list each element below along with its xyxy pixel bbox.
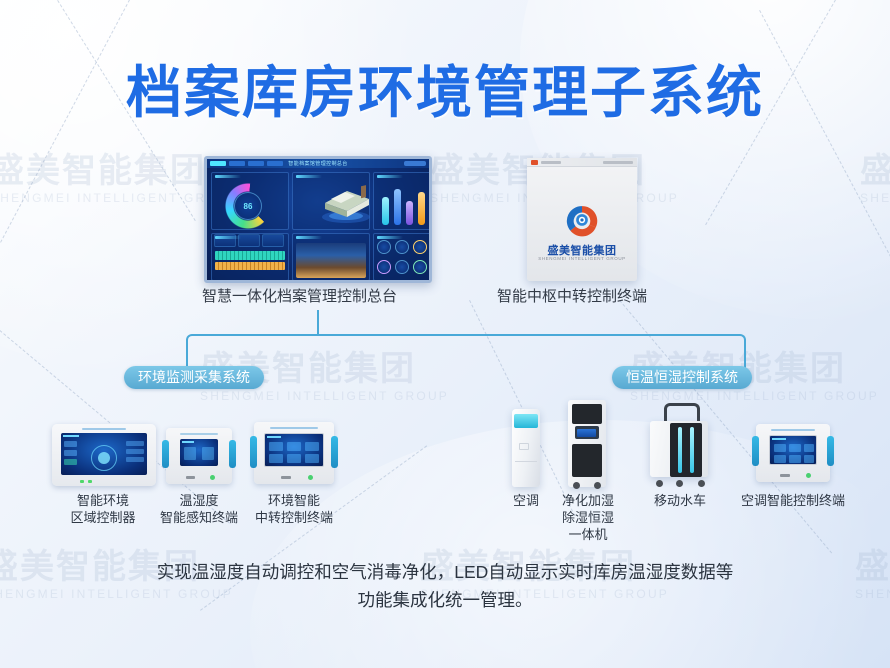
side-accent-left — [752, 436, 759, 466]
device-caption: 环境智能 中转控制终端 — [244, 492, 344, 526]
bg-diagonal-2 — [0, 0, 130, 265]
watermark-en: SHENGMEI INTELLIGENT GROUP — [200, 388, 449, 404]
device-purifier-humidifier-image — [568, 400, 606, 487]
panel-title-bar — [215, 175, 241, 178]
hub-brand-en: SHENGMEI INTELLIGENT GROUP — [527, 256, 637, 261]
device-temp-humidity-sensor-image — [166, 428, 232, 484]
power-led-icon — [210, 475, 215, 480]
side-accent-left — [250, 436, 257, 468]
hmi-screen[interactable] — [61, 433, 147, 475]
bar-item — [382, 197, 389, 225]
bar-chart — [379, 181, 427, 225]
heat-strip-2 — [215, 262, 285, 270]
shengmei-logo-icon — [565, 204, 599, 238]
watermark: 盛美智能集团 SHENGMEI INTELLIGENT GROUP — [855, 548, 890, 602]
wallbox-header-text — [180, 433, 218, 435]
watermark-en: SHENGMEI INTELLIGENT GROUP — [860, 190, 890, 206]
device-air-conditioner-image — [512, 409, 540, 487]
panel-title-bar — [215, 236, 241, 239]
control-icon-fresh-air[interactable] — [395, 260, 409, 274]
control-icon-security[interactable] — [413, 260, 427, 274]
side-accent-right — [331, 436, 338, 468]
heat-strip-1 — [215, 251, 285, 260]
caption-line-1: 实现温湿度自动调控和空气消毒净化，LED自动显示实时库房温湿度数据等 — [157, 562, 734, 582]
label-strip — [780, 474, 790, 477]
bar-item — [406, 201, 413, 225]
side-accent-left — [162, 440, 169, 468]
caption-line-2: 功能集成化统一管理。 — [358, 590, 533, 610]
panel-title-bar — [377, 175, 403, 178]
watermark: 盛美智能集团 SHENGMEI INTELLIGENT GROUP — [860, 152, 890, 206]
bar-item — [394, 189, 401, 225]
label-strip — [186, 476, 195, 479]
console-dashboard-image: 智能档案馆管理控制总台 86 — [204, 156, 432, 283]
bottom-caption: 实现温湿度自动调控和空气消毒净化，LED自动显示实时库房温湿度数据等 功能集成化… — [60, 558, 830, 614]
ac-vent — [514, 414, 539, 427]
control-icon-aircon[interactable] — [377, 240, 391, 254]
hub-header-title — [603, 161, 633, 164]
device-area-controller-image — [52, 424, 156, 486]
label-strip — [281, 476, 291, 479]
watermark-cn: 盛美智能集团 — [860, 152, 890, 190]
poster-canvas: 盛美智能集团 SHENGMEI INTELLIGENT GROUP 盛美智能集团… — [0, 0, 890, 668]
group-label-temp-humidity-control: 恒温恒湿控制系统 — [612, 366, 752, 389]
page-title: 档案库房环境管理子系统 — [0, 48, 890, 129]
hub-header-text — [541, 161, 561, 164]
device-mobile-water-cart-image — [650, 403, 708, 487]
console-label: 智慧一体化档案管理控制总台 — [202, 285, 397, 306]
wallbox-screen[interactable] — [769, 435, 817, 465]
hub-label: 智能中枢中转控制终端 — [497, 285, 647, 306]
caster-wheel-icon — [594, 482, 601, 489]
dashboard-topbar: 智能档案馆管理控制总台 — [207, 159, 429, 168]
device-ac-control-terminal-image — [756, 424, 830, 482]
cart-chamber — [670, 423, 702, 477]
wallbox-screen[interactable] — [264, 433, 324, 467]
caster-wheel-icon — [573, 482, 580, 489]
caster-wheel-icon — [656, 480, 663, 487]
device-caption: 空调智能控制终端 — [722, 492, 864, 509]
wallbox-header-text — [270, 427, 318, 429]
device-caption: 移动水车 — [638, 492, 722, 509]
gauge-value: 86 — [234, 192, 262, 220]
hub-terminal-image: 盛美智能集团 SHENGMEI INTELLIGENT GROUP — [527, 158, 637, 281]
live-video-thumbnail[interactable] — [296, 243, 366, 278]
control-icon-lighting[interactable] — [413, 240, 427, 254]
dashboard-title: 智能档案馆管理控制总台 — [207, 160, 429, 167]
caster-wheel-icon — [676, 480, 683, 487]
device-caption: 温湿度 智能感知终端 — [139, 492, 259, 526]
panel-title-bar — [296, 236, 322, 239]
wallbox-header-text — [771, 429, 815, 431]
connector-stem-dashed — [318, 284, 319, 312]
watermark-cn: 盛美智能集团 — [855, 548, 890, 586]
status-led-green — [88, 480, 92, 483]
caster-wheel-icon — [698, 480, 705, 487]
control-icon-dehumidify[interactable] — [395, 240, 409, 254]
watermark-en: SHENGMEI INTELLIGENT GROUP — [855, 586, 890, 602]
uv-lamp-icon — [678, 427, 682, 473]
panel-title-bar — [296, 175, 322, 178]
power-led-icon — [308, 475, 313, 480]
power-led-icon — [806, 473, 811, 478]
device-caption: 净化加湿 除湿恒湿 一体机 — [552, 492, 624, 543]
purifier-lower-panel — [572, 444, 602, 477]
warehouse-3d-model-icon — [315, 179, 377, 225]
status-led-green — [80, 480, 84, 483]
hub-logo-dot-icon — [531, 160, 538, 165]
watermark-en: SHENGMEI INTELLIGENT GROUP — [630, 388, 879, 404]
bar-item — [418, 192, 425, 225]
device-env-relay-terminal-image — [254, 422, 334, 484]
purifier-screen — [577, 429, 596, 437]
group-label-environment-monitoring: 环境监测采集系统 — [124, 366, 264, 389]
side-accent-right — [229, 440, 236, 468]
ac-seam — [515, 461, 537, 462]
purifier-top-vent — [572, 404, 602, 424]
control-icon-disinfect[interactable] — [377, 260, 391, 274]
hmi-header-text — [82, 428, 126, 430]
connector-stem — [317, 310, 319, 336]
uv-lamp-icon — [690, 427, 694, 473]
side-accent-right — [827, 436, 834, 466]
wallbox-screen[interactable] — [180, 439, 218, 466]
hub-header — [527, 158, 637, 167]
ac-display — [519, 443, 529, 450]
panel-title-bar — [377, 236, 403, 239]
